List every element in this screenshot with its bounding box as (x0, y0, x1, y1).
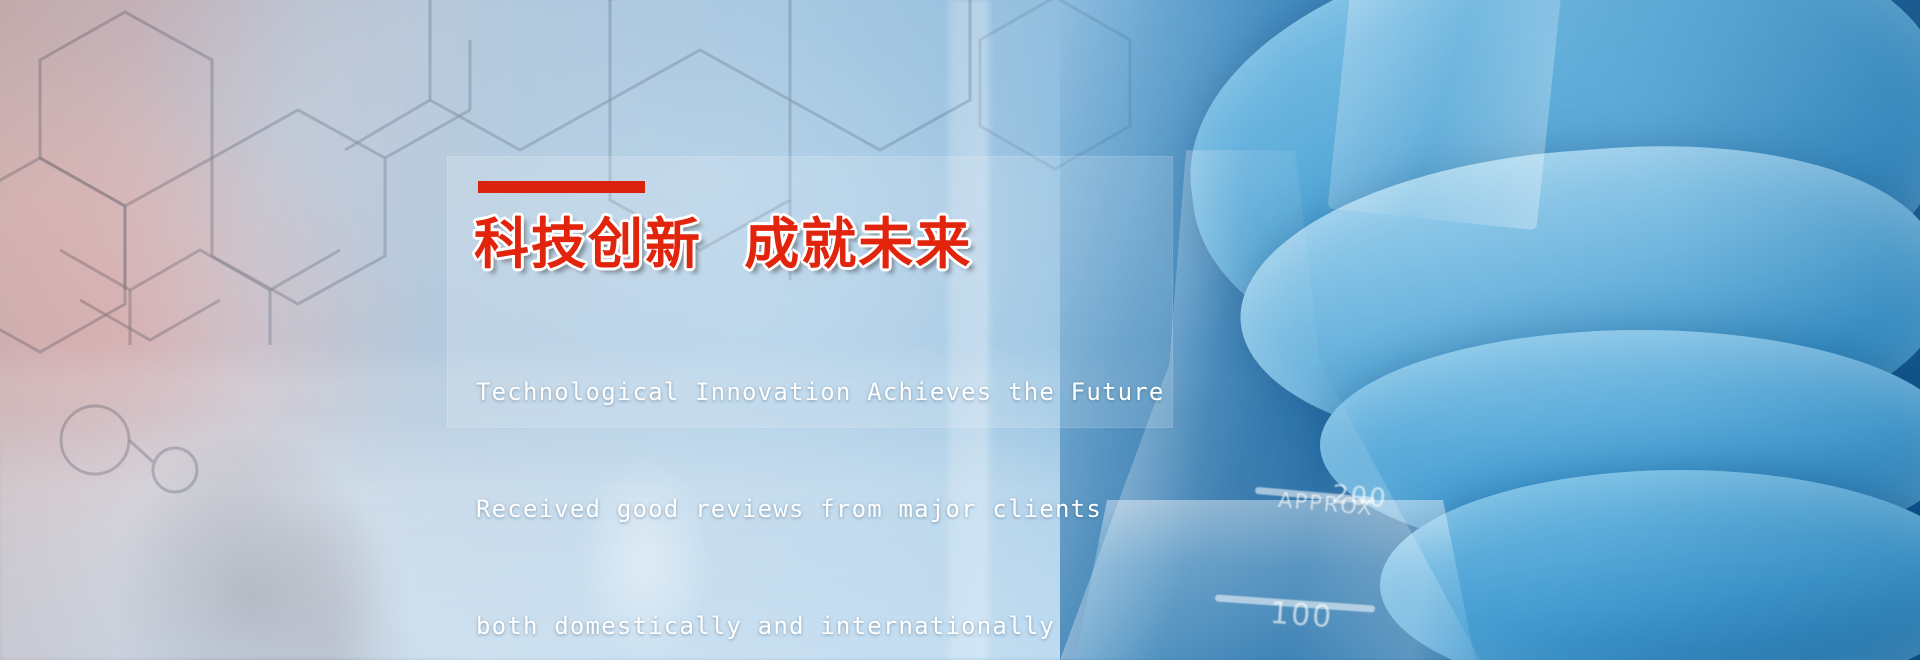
subheadline-line-3: both domestically and internationally (476, 607, 1176, 646)
subheadline-line-1: Technological Innovation Achieves the Fu… (476, 373, 1176, 412)
svg-text:N: N (520, 0, 542, 2)
accent-bar (478, 181, 645, 193)
headline-text: 科技创新 成就未来 (474, 212, 972, 276)
hero-banner: N APPROX 200 100 科技创新 成就未来 Technological… (0, 0, 1920, 660)
subheadline-line-2: Received good reviews from major clients (476, 490, 1176, 529)
flask-label-100: 100 (1269, 596, 1335, 635)
flask-neck (1328, 0, 1563, 230)
flask-label-200: 200 (1331, 480, 1389, 515)
subheadline-block: Technological Innovation Achieves the Fu… (476, 295, 1176, 660)
